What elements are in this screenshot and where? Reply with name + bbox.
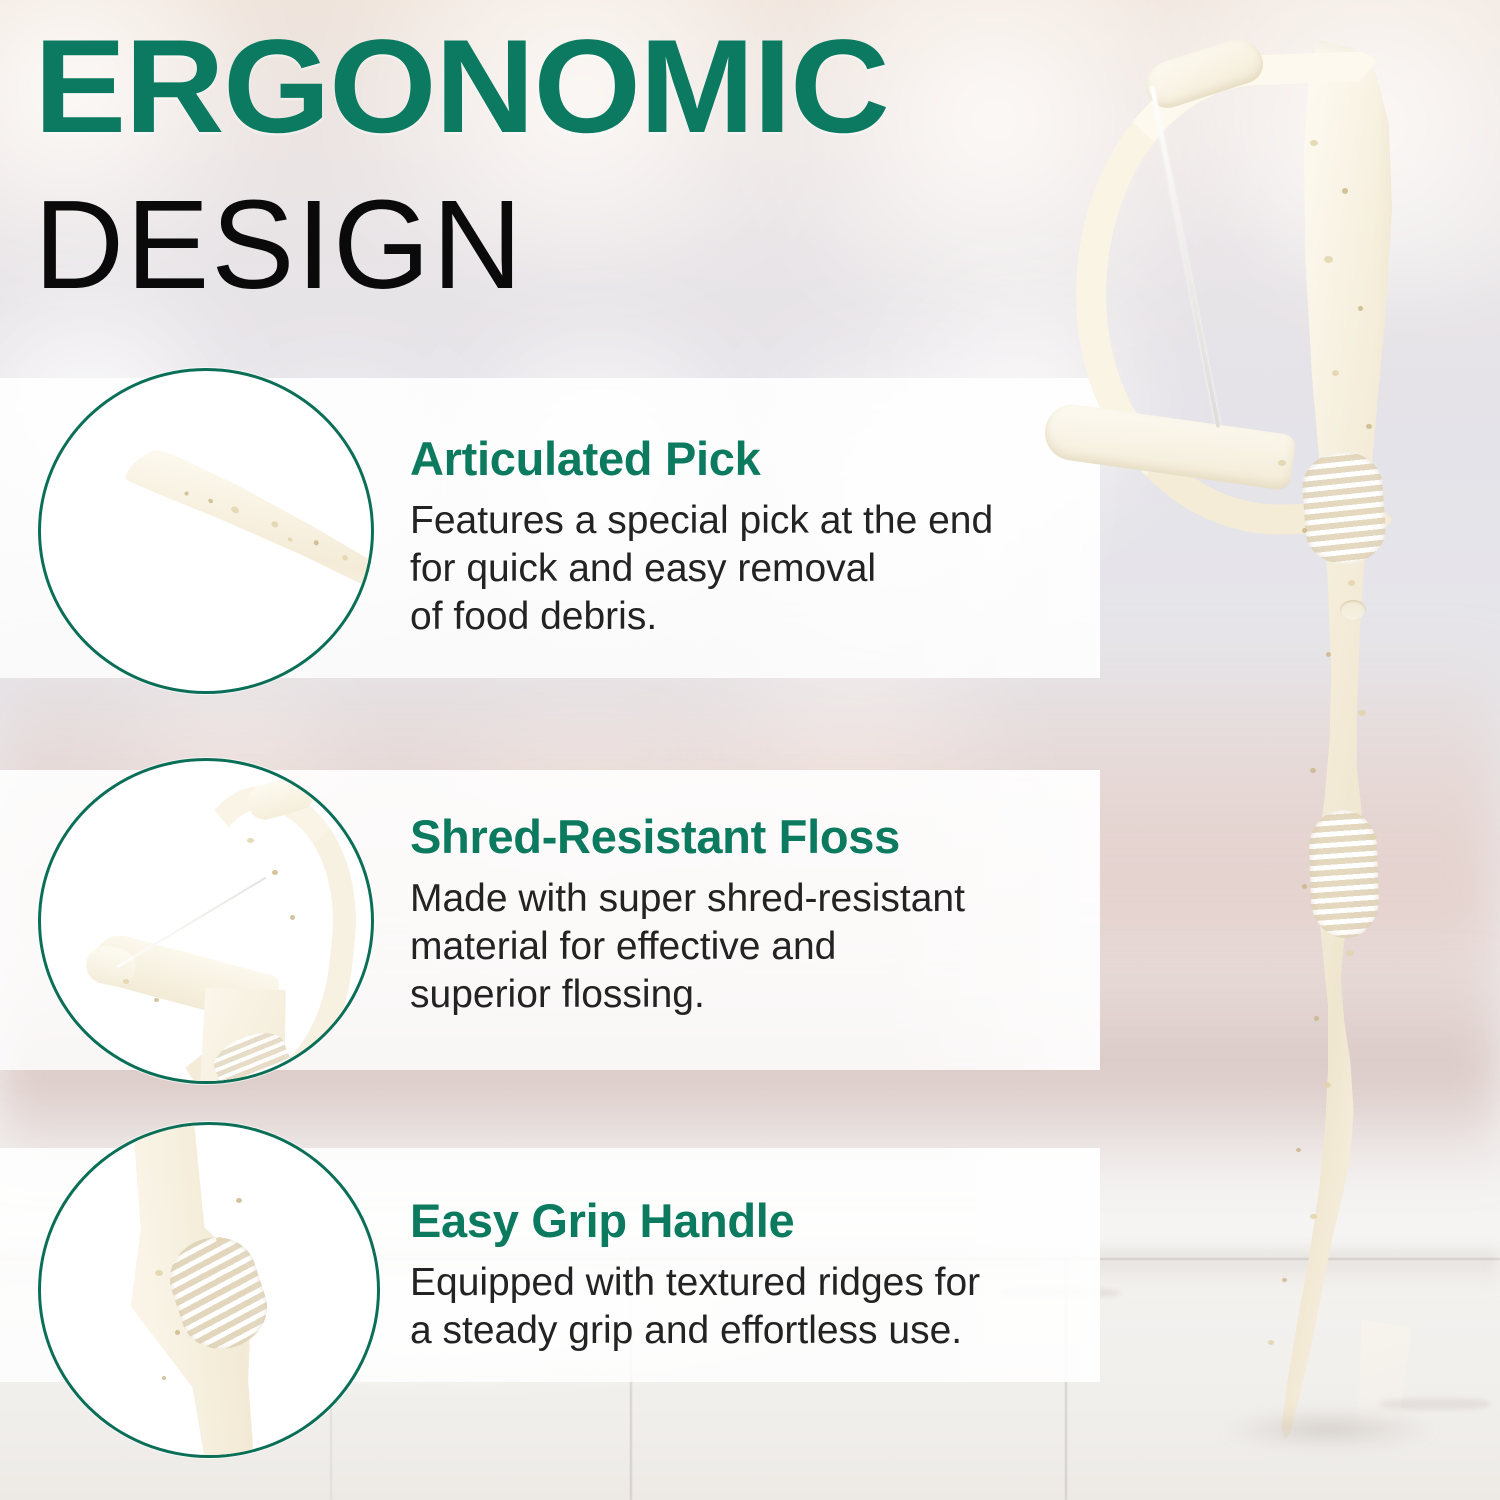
pick-tip-closeup xyxy=(123,429,374,633)
infographic-canvas: ERGONOMIC DESIGN Articulated Pick Featur… xyxy=(0,0,1500,1500)
feature-body-3: Equipped with textured ridges fora stead… xyxy=(410,1259,980,1354)
feature-text-articulated-pick: Articulated Pick Features a special pick… xyxy=(410,434,993,640)
feature-text-shred-resistant-floss: Shred-Resistant Floss Made with super sh… xyxy=(410,812,965,1018)
feature-body-1: Features a special pick at the endfor qu… xyxy=(410,497,993,640)
headline-line-2: DESIGN xyxy=(34,182,847,308)
grip-closeup xyxy=(41,1125,377,1455)
floss-head-closeup xyxy=(61,774,371,1084)
product-shadow xyxy=(1224,1412,1434,1446)
product-photo-floss-pick xyxy=(1010,20,1480,1470)
page-title: ERGONOMIC DESIGN xyxy=(34,24,855,308)
feature-inset-shred-resistant-floss xyxy=(38,758,374,1084)
product-grip-pad-upper xyxy=(1300,449,1388,566)
feature-title-2: Shred-Resistant Floss xyxy=(410,812,965,861)
feature-inset-easy-grip-handle xyxy=(38,1122,380,1458)
product-grip-pad-lower xyxy=(1308,809,1380,939)
headline-line-1: ERGONOMIC xyxy=(34,24,888,152)
feature-title-1: Articulated Pick xyxy=(410,434,993,483)
feature-text-easy-grip-handle: Easy Grip Handle Equipped with textured … xyxy=(410,1196,980,1355)
feature-title-3: Easy Grip Handle xyxy=(410,1196,980,1245)
feature-body-2: Made with super shred-resistantmaterial … xyxy=(410,875,965,1018)
product-dimple xyxy=(1340,600,1366,620)
feature-inset-articulated-pick xyxy=(38,368,374,694)
